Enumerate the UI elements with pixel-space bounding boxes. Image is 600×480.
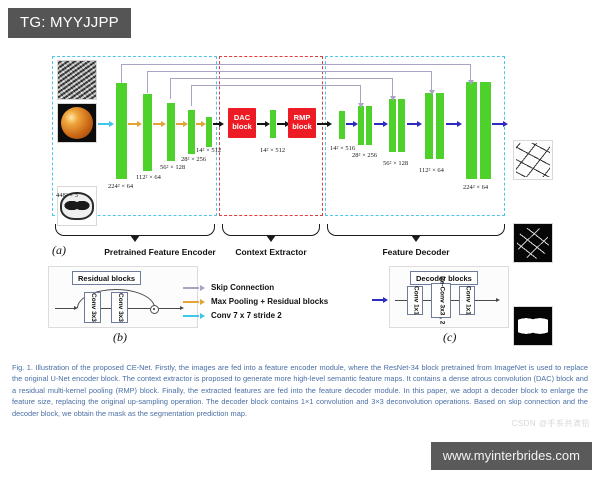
decoder-dim-2: 28² × 256 [352, 152, 377, 159]
encoder-bar-2 [143, 94, 152, 171]
decoder-bar-2b [366, 106, 372, 145]
skip-connection-3-head [390, 96, 396, 101]
decoder-bar-3b [398, 99, 405, 152]
panel-c-decoder-blocks: Decoder blocks Conv 1x1 De-Conv 3x3 , 2 … [389, 266, 509, 328]
encoder-dim-4: 28² × 256 [181, 156, 206, 163]
panel-c-letter: (c) [443, 330, 456, 345]
residual-conv-1-line2: 3x3 [90, 311, 97, 322]
encoder-brace-tip [130, 235, 140, 242]
tg-badge: TG: MYYJJPP [8, 8, 131, 38]
input-dim-label: 448² × 3 [56, 192, 78, 199]
encoder-bar-1 [116, 83, 127, 179]
decoder-deconv-block: De-Conv 3x3 , 2 [431, 283, 451, 318]
encoder-dim-5: 14² × 512 [196, 147, 221, 154]
section-label-encoder: Pretrained Feature Encoder [78, 247, 242, 257]
decoder-conv-block-1: Conv 1x1 [407, 286, 423, 315]
decoder-bar-5b [480, 82, 491, 179]
panel-b-residual-blocks: Residual blocks Conv 3x3 Conv 3x3 [48, 266, 198, 328]
decoder-deconv-line2: 3x3 , 2 [438, 305, 445, 325]
encoder-bar-4 [188, 110, 195, 154]
dac-block: DAC block [228, 108, 256, 138]
decoder-bar-2a [358, 106, 364, 145]
skip-connection-4-head [358, 103, 364, 108]
context-mid-dim: 14² × 512 [260, 147, 285, 154]
fundus-input-image [57, 103, 97, 143]
sketch-output-image [513, 140, 553, 180]
texture-input-image [57, 60, 97, 100]
decoder-bar-4b [436, 93, 444, 159]
csdn-watermark: CSDN @手系共滴铅 [511, 418, 590, 429]
decoder-conv-2-line1: Conv [464, 286, 471, 302]
site-watermark-badge: www.myinterbrides.com [431, 442, 592, 470]
encoder-dim-1: 224² × 64 [108, 183, 133, 190]
skip-connection-4 [191, 85, 361, 106]
residual-conv-2-line2: 3x3 [117, 311, 124, 322]
decoder-conv-2-line2: 1x1 [464, 304, 471, 315]
decoder-dim-5: 224² × 64 [463, 184, 488, 191]
figure-number: Fig. 1. [12, 363, 33, 372]
skip-connection-2-head [429, 90, 435, 95]
residual-conv-block-2: Conv 3x3 [111, 292, 128, 323]
encoder-bar-3 [167, 103, 175, 161]
panel-b-letter: (b) [113, 330, 127, 345]
decoder-bar-3a [389, 99, 396, 152]
context-mid-bar [270, 110, 276, 138]
legend-label-skip: Skip Connection [211, 283, 274, 292]
legend-row-skip: Skip Connection [183, 283, 328, 292]
legend-label-conv: Conv 7 x 7 stride 2 [211, 311, 282, 320]
decoder-conv-block-2: Conv 1x1 [459, 286, 475, 315]
rmp-block-line2: block [292, 123, 312, 132]
dac-block-line2: block [232, 123, 252, 132]
residual-conv-1-line1: Conv [90, 293, 97, 309]
decoder-bar-4a [425, 93, 433, 159]
encoder-dim-3: 56² × 128 [160, 164, 185, 171]
skip-connection-arrow-icon [183, 284, 205, 291]
decoder-deconv-line1: De-Conv [438, 276, 445, 303]
context-brace-tip [266, 235, 276, 242]
decoder-conv-1-line1: Conv [412, 286, 419, 302]
residual-sum-node [150, 305, 159, 314]
legend: Skip Connection Max Pooling + Residual b… [183, 283, 328, 325]
conv7x7-arrow-icon [183, 312, 205, 319]
figure-caption: Fig. 1. Illustration of the proposed CE-… [12, 362, 588, 419]
decoder-brace-tip [411, 235, 421, 242]
rmp-block: RMP block [288, 108, 316, 138]
decoder-dim-1: 14² × 516 [330, 145, 355, 152]
decoder-conv-1-line2: 1x1 [412, 304, 419, 315]
figure-caption-text: Illustration of the proposed CE-Net. Fir… [12, 363, 588, 418]
decoder-dim-3: 56² × 128 [383, 160, 408, 167]
section-label-decoder: Feature Decoder [328, 247, 504, 257]
max-pooling-arrow-icon [183, 298, 205, 305]
encoder-dim-2: 112² × 64 [136, 174, 161, 181]
panel-b-title: Residual blocks [72, 271, 141, 285]
decoder-bar-5a [466, 82, 477, 179]
legend-label-pool: Max Pooling + Residual blocks [211, 297, 328, 306]
legend-row-conv: Conv 7 x 7 stride 2 [183, 311, 328, 320]
figure-canvas: 448² × 3 224² × 64 112² × 64 56² × 128 2… [0, 0, 600, 480]
residual-conv-block-1: Conv 3x3 [84, 292, 101, 323]
residual-conv-2-line1: Conv [117, 293, 124, 309]
legend-row-pool: Max Pooling + Residual blocks [183, 297, 328, 306]
panel-a-letter: (a) [52, 243, 66, 258]
decoder-bar-1 [339, 111, 345, 139]
lung-mask-output-image [513, 306, 553, 346]
section-label-context: Context Extractor [224, 247, 318, 257]
decoder-dim-4: 112² × 64 [419, 167, 444, 174]
vessel-output-image [513, 223, 553, 263]
skip-connection-1-head [468, 80, 474, 85]
encoder-bar-5 [206, 117, 212, 147]
